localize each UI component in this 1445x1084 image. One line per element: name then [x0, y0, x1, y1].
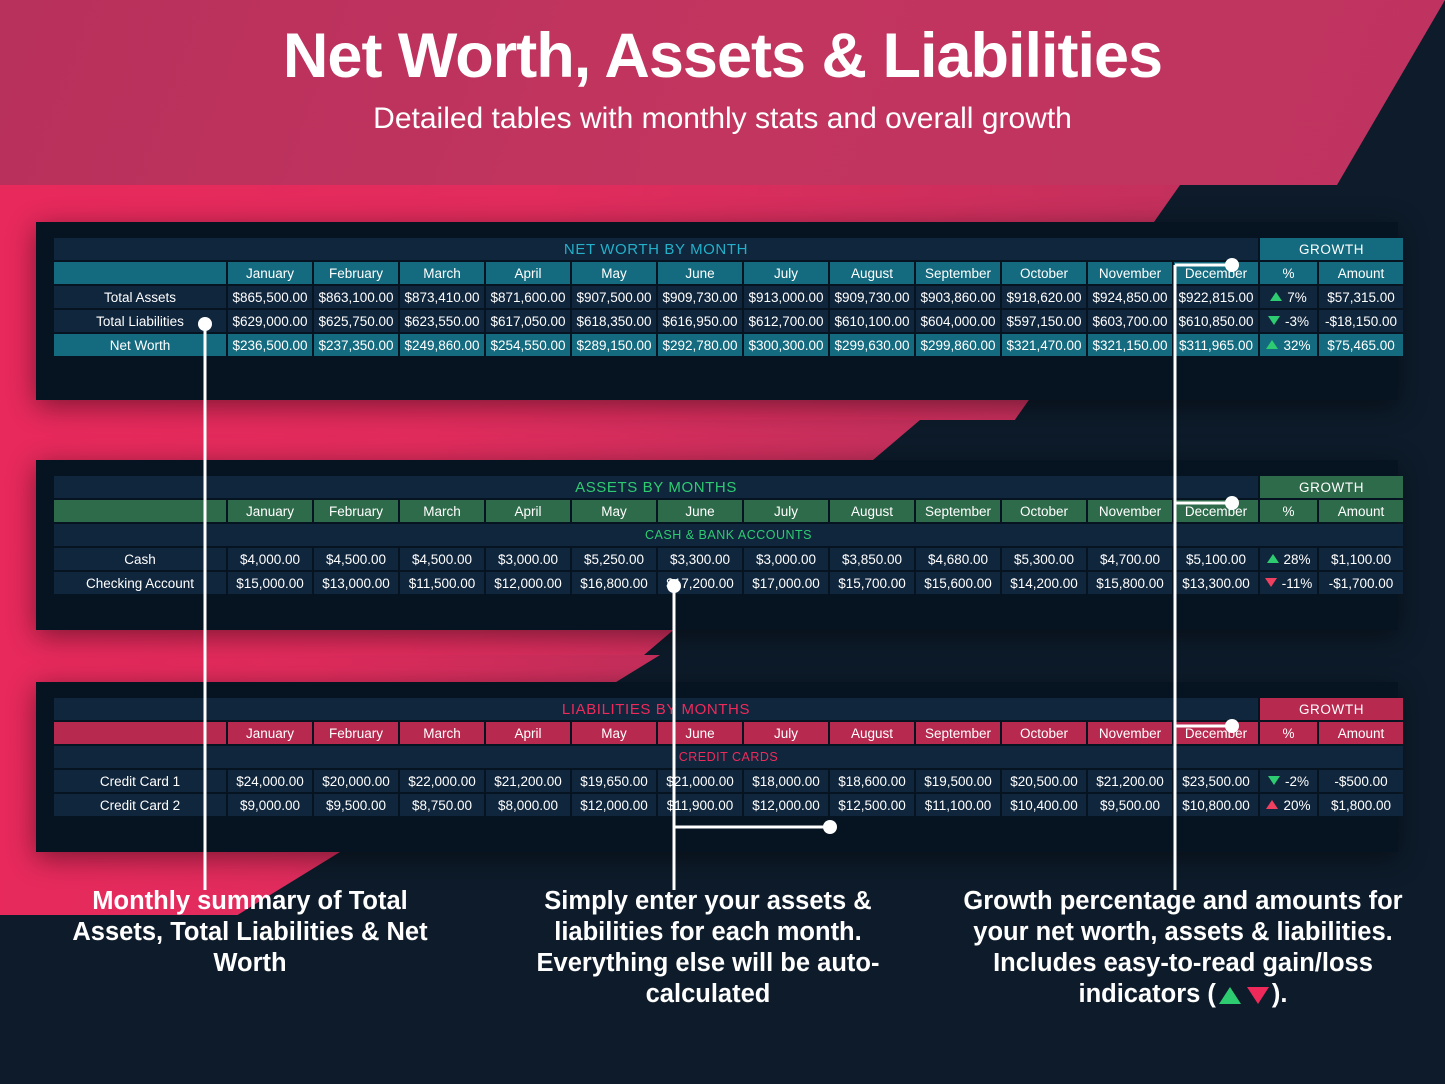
- arrow-down-icon: [1268, 776, 1280, 785]
- assets-panel: ASSETS BY MONTHSGROWTHJanuaryFebruaryMar…: [36, 460, 1398, 630]
- net-worth-growth-percent: 32%: [1260, 334, 1317, 356]
- liabilities-growth-percent-value: -2%: [1285, 774, 1309, 789]
- assets-cell-march[interactable]: $11,500.00: [400, 572, 484, 594]
- liabilities-cell-june[interactable]: $11,900.00: [658, 794, 742, 816]
- net-worth-header-month-may[interactable]: May: [572, 262, 656, 284]
- liabilities-cell-december[interactable]: $10,800.00: [1174, 794, 1258, 816]
- net-worth-row-label[interactable]: Net Worth: [54, 334, 226, 356]
- liabilities-header-month-july[interactable]: July: [744, 722, 828, 744]
- assets-row-label[interactable]: Checking Account: [54, 572, 226, 594]
- net-worth-cell-may[interactable]: $907,500.00: [572, 286, 656, 308]
- table-row: Net Worth$236,500.00$237,350.00$249,860.…: [54, 334, 1403, 356]
- net-worth-header-corner: [54, 262, 226, 284]
- liabilities-cell-november[interactable]: $9,500.00: [1088, 794, 1172, 816]
- net-worth-header-month-january[interactable]: January: [228, 262, 312, 284]
- assets-header-month-june[interactable]: June: [658, 500, 742, 522]
- liabilities-header-month-may[interactable]: May: [572, 722, 656, 744]
- net-worth-table: NET WORTH BY MONTHGROWTHJanuaryFebruaryM…: [52, 236, 1405, 358]
- liabilities-cell-january[interactable]: $9,000.00: [228, 794, 312, 816]
- net-worth-header-month-november[interactable]: November: [1088, 262, 1172, 284]
- liabilities-header-month-december[interactable]: December: [1174, 722, 1258, 744]
- net-worth-cell-september[interactable]: $604,000.00: [916, 310, 1000, 332]
- assets-cell-march[interactable]: $4,500.00: [400, 548, 484, 570]
- net-worth-header-growth-amount[interactable]: Amount: [1319, 262, 1403, 284]
- net-worth-cell-september[interactable]: $903,860.00: [916, 286, 1000, 308]
- net-worth-cell-november[interactable]: $924,850.00: [1088, 286, 1172, 308]
- net-worth-cell-june[interactable]: $909,730.00: [658, 286, 742, 308]
- gain-arrow-icon: [1219, 987, 1241, 1004]
- arrow-up-icon: [1266, 340, 1278, 349]
- page-subtitle: Detailed tables with monthly stats and o…: [0, 102, 1445, 136]
- liabilities-header-growth-percent[interactable]: %: [1260, 722, 1317, 744]
- assets-cell-april[interactable]: $12,000.00: [486, 572, 570, 594]
- arrow-up-icon: [1267, 554, 1279, 563]
- assets-cell-september[interactable]: $15,600.00: [916, 572, 1000, 594]
- net-worth-header-month-december[interactable]: December: [1174, 262, 1258, 284]
- net-worth-cell-january[interactable]: $236,500.00: [228, 334, 312, 356]
- assets-title-row: ASSETS BY MONTHSGROWTH: [54, 476, 1403, 498]
- assets-growth-percent: -11%: [1260, 572, 1317, 594]
- caption-monthly-summary: Monthly summary of Total Assets, Total L…: [40, 886, 460, 1084]
- assets-cell-october[interactable]: $14,200.00: [1002, 572, 1086, 594]
- table-row: Total Assets$865,500.00$863,100.00$873,4…: [54, 286, 1403, 308]
- net-worth-cell-july[interactable]: $300,300.00: [744, 334, 828, 356]
- net-worth-cell-june[interactable]: $292,780.00: [658, 334, 742, 356]
- assets-header-month-september[interactable]: September: [916, 500, 1000, 522]
- assets-cell-february[interactable]: $13,000.00: [314, 572, 398, 594]
- assets-cell-september[interactable]: $4,680.00: [916, 548, 1000, 570]
- assets-cell-october[interactable]: $5,300.00: [1002, 548, 1086, 570]
- caption-growth-text-b: ).: [1272, 980, 1288, 1008]
- assets-table: ASSETS BY MONTHSGROWTHJanuaryFebruaryMar…: [52, 474, 1405, 596]
- net-worth-cell-march[interactable]: $873,410.00: [400, 286, 484, 308]
- liabilities-cell-april[interactable]: $8,000.00: [486, 794, 570, 816]
- assets-cell-may[interactable]: $16,800.00: [572, 572, 656, 594]
- assets-header-month-december[interactable]: December: [1174, 500, 1258, 522]
- assets-growth-percent-value: 28%: [1284, 552, 1311, 567]
- assets-section-label: CASH & BANK ACCOUNTS: [54, 524, 1403, 546]
- assets-growth-percent-value: -11%: [1282, 576, 1313, 591]
- assets-table-title: ASSETS BY MONTHS: [54, 476, 1258, 498]
- page-title: Net Worth, Assets & Liabilities: [0, 22, 1445, 90]
- table-row: Total Liabilities$629,000.00$625,750.00$…: [54, 310, 1403, 332]
- net-worth-header-month-february[interactable]: February: [314, 262, 398, 284]
- net-worth-growth-header: GROWTH: [1260, 238, 1403, 260]
- liabilities-cell-july[interactable]: $18,000.00: [744, 770, 828, 792]
- net-worth-growth-percent: -3%: [1260, 310, 1317, 332]
- liabilities-column-header-row: JanuaryFebruaryMarchAprilMayJuneJulyAugu…: [54, 722, 1403, 744]
- net-worth-cell-april[interactable]: $871,600.00: [486, 286, 570, 308]
- net-worth-cell-september[interactable]: $299,860.00: [916, 334, 1000, 356]
- table-row: Credit Card 1$24,000.00$20,000.00$22,000…: [54, 770, 1403, 792]
- liabilities-cell-september[interactable]: $11,100.00: [916, 794, 1000, 816]
- net-worth-cell-august[interactable]: $299,630.00: [830, 334, 914, 356]
- net-worth-cell-march[interactable]: $249,860.00: [400, 334, 484, 356]
- assets-column-header-row: JanuaryFebruaryMarchAprilMayJuneJulyAugu…: [54, 500, 1403, 522]
- assets-header-month-march[interactable]: March: [400, 500, 484, 522]
- liabilities-section-row: CREDIT CARDS: [54, 746, 1403, 768]
- net-worth-cell-january[interactable]: $629,000.00: [228, 310, 312, 332]
- assets-cell-december[interactable]: $5,100.00: [1174, 548, 1258, 570]
- liabilities-header-month-april[interactable]: April: [486, 722, 570, 744]
- assets-growth-percent: 28%: [1260, 548, 1317, 570]
- assets-header-month-february[interactable]: February: [314, 500, 398, 522]
- arrow-down-icon: [1265, 578, 1277, 587]
- liabilities-header-month-march[interactable]: March: [400, 722, 484, 744]
- liabilities-cell-may[interactable]: $12,000.00: [572, 794, 656, 816]
- liabilities-growth-header: GROWTH: [1260, 698, 1403, 720]
- net-worth-cell-march[interactable]: $623,550.00: [400, 310, 484, 332]
- net-worth-cell-august[interactable]: $610,100.00: [830, 310, 914, 332]
- assets-cell-june[interactable]: $17,200.00: [658, 572, 742, 594]
- assets-cell-february[interactable]: $4,500.00: [314, 548, 398, 570]
- net-worth-growth-percent-value: -3%: [1285, 314, 1309, 329]
- liabilities-cell-february[interactable]: $20,000.00: [314, 770, 398, 792]
- caption-growth: Growth percentage and amounts for your n…: [928, 886, 1438, 1084]
- net-worth-cell-october[interactable]: $918,620.00: [1002, 286, 1086, 308]
- net-worth-cell-july[interactable]: $612,700.00: [744, 310, 828, 332]
- captions-row: Monthly summary of Total Assets, Total L…: [0, 886, 1445, 1084]
- assets-cell-november[interactable]: $4,700.00: [1088, 548, 1172, 570]
- net-worth-cell-may[interactable]: $289,150.00: [572, 334, 656, 356]
- assets-growth-header: GROWTH: [1260, 476, 1403, 498]
- net-worth-row-label[interactable]: Total Liabilities: [54, 310, 226, 332]
- assets-cell-december[interactable]: $13,300.00: [1174, 572, 1258, 594]
- liabilities-cell-november[interactable]: $21,200.00: [1088, 770, 1172, 792]
- net-worth-table-title: NET WORTH BY MONTH: [54, 238, 1258, 260]
- liabilities-growth-amount: -$500.00: [1319, 770, 1403, 792]
- liabilities-cell-september[interactable]: $19,500.00: [916, 770, 1000, 792]
- net-worth-cell-june[interactable]: $616,950.00: [658, 310, 742, 332]
- assets-cell-january[interactable]: $4,000.00: [228, 548, 312, 570]
- liabilities-growth-percent: -2%: [1260, 770, 1317, 792]
- assets-header-month-november[interactable]: November: [1088, 500, 1172, 522]
- page-header: Net Worth, Assets & Liabilities Detailed…: [0, 0, 1445, 185]
- assets-header-growth-percent[interactable]: %: [1260, 500, 1317, 522]
- assets-header-month-october[interactable]: October: [1002, 500, 1086, 522]
- liabilities-growth-amount: $1,800.00: [1319, 794, 1403, 816]
- liabilities-header-corner: [54, 722, 226, 744]
- caption-data-entry: Simply enter your assets & liabilities f…: [508, 886, 908, 1084]
- liabilities-cell-july[interactable]: $12,000.00: [744, 794, 828, 816]
- assets-header-month-april[interactable]: April: [486, 500, 570, 522]
- net-worth-cell-april[interactable]: $617,050.00: [486, 310, 570, 332]
- net-worth-column-header-row: JanuaryFebruaryMarchAprilMayJuneJulyAugu…: [54, 262, 1403, 284]
- net-worth-cell-february[interactable]: $863,100.00: [314, 286, 398, 308]
- net-worth-cell-october[interactable]: $597,150.00: [1002, 310, 1086, 332]
- net-worth-cell-july[interactable]: $913,000.00: [744, 286, 828, 308]
- net-worth-row-label[interactable]: Total Assets: [54, 286, 226, 308]
- assets-cell-july[interactable]: $3,000.00: [744, 548, 828, 570]
- assets-cell-august[interactable]: $15,700.00: [830, 572, 914, 594]
- net-worth-cell-december[interactable]: $610,850.00: [1174, 310, 1258, 332]
- liabilities-header-month-january[interactable]: January: [228, 722, 312, 744]
- liabilities-header-growth-amount[interactable]: Amount: [1319, 722, 1403, 744]
- net-worth-header-month-april[interactable]: April: [486, 262, 570, 284]
- assets-cell-july[interactable]: $17,000.00: [744, 572, 828, 594]
- net-worth-growth-percent-value: 32%: [1283, 338, 1310, 353]
- liabilities-table: LIABILITIES BY MONTHSGROWTHJanuaryFebrua…: [52, 696, 1405, 818]
- liabilities-cell-february[interactable]: $9,500.00: [314, 794, 398, 816]
- liabilities-cell-march[interactable]: $8,750.00: [400, 794, 484, 816]
- liabilities-cell-march[interactable]: $22,000.00: [400, 770, 484, 792]
- liabilities-panel: LIABILITIES BY MONTHSGROWTHJanuaryFebrua…: [36, 682, 1398, 852]
- net-worth-cell-november[interactable]: $321,150.00: [1088, 334, 1172, 356]
- net-worth-cell-february[interactable]: $625,750.00: [314, 310, 398, 332]
- liabilities-cell-august[interactable]: $18,600.00: [830, 770, 914, 792]
- liabilities-table-title: LIABILITIES BY MONTHS: [54, 698, 1258, 720]
- net-worth-cell-december[interactable]: $311,965.00: [1174, 334, 1258, 356]
- net-worth-header-month-october[interactable]: October: [1002, 262, 1086, 284]
- assets-section-row: CASH & BANK ACCOUNTS: [54, 524, 1403, 546]
- net-worth-growth-percent: 7%: [1260, 286, 1317, 308]
- net-worth-growth-amount: -$18,150.00: [1319, 310, 1403, 332]
- assets-header-corner: [54, 500, 226, 522]
- liabilities-header-month-october[interactable]: October: [1002, 722, 1086, 744]
- assets-cell-january[interactable]: $15,000.00: [228, 572, 312, 594]
- liabilities-title-row: LIABILITIES BY MONTHSGROWTH: [54, 698, 1403, 720]
- assets-header-month-may[interactable]: May: [572, 500, 656, 522]
- liabilities-growth-percent-value: 20%: [1283, 798, 1310, 813]
- assets-header-month-august[interactable]: August: [830, 500, 914, 522]
- loss-arrow-icon: [1247, 987, 1269, 1004]
- net-worth-cell-may[interactable]: $618,350.00: [572, 310, 656, 332]
- liabilities-cell-august[interactable]: $12,500.00: [830, 794, 914, 816]
- liabilities-header-month-february[interactable]: February: [314, 722, 398, 744]
- assets-cell-may[interactable]: $5,250.00: [572, 548, 656, 570]
- assets-cell-november[interactable]: $15,800.00: [1088, 572, 1172, 594]
- arrow-up-icon: [1266, 800, 1278, 809]
- table-row: Credit Card 2$9,000.00$9,500.00$8,750.00…: [54, 794, 1403, 816]
- net-worth-cell-december[interactable]: $922,815.00: [1174, 286, 1258, 308]
- liabilities-header-month-august[interactable]: August: [830, 722, 914, 744]
- net-worth-title-row: NET WORTH BY MONTHGROWTH: [54, 238, 1403, 260]
- net-worth-cell-november[interactable]: $603,700.00: [1088, 310, 1172, 332]
- liabilities-header-month-november[interactable]: November: [1088, 722, 1172, 744]
- net-worth-cell-february[interactable]: $237,350.00: [314, 334, 398, 356]
- liabilities-section-label: CREDIT CARDS: [54, 746, 1403, 768]
- liabilities-cell-may[interactable]: $19,650.00: [572, 770, 656, 792]
- arrow-up-icon: [1270, 292, 1282, 301]
- net-worth-growth-percent-value: 7%: [1287, 290, 1307, 305]
- assets-cell-august[interactable]: $3,850.00: [830, 548, 914, 570]
- liabilities-row-label[interactable]: Credit Card 1: [54, 770, 226, 792]
- caption-growth-text-a: Growth percentage and amounts for your n…: [963, 887, 1402, 1008]
- liabilities-row-label[interactable]: Credit Card 2: [54, 794, 226, 816]
- liabilities-header-month-june[interactable]: June: [658, 722, 742, 744]
- table-row: Cash$4,000.00$4,500.00$4,500.00$3,000.00…: [54, 548, 1403, 570]
- assets-cell-june[interactable]: $3,300.00: [658, 548, 742, 570]
- liabilities-cell-april[interactable]: $21,200.00: [486, 770, 570, 792]
- liabilities-cell-december[interactable]: $23,500.00: [1174, 770, 1258, 792]
- net-worth-header-month-july[interactable]: July: [744, 262, 828, 284]
- arrow-down-icon: [1268, 316, 1280, 325]
- net-worth-growth-amount: $57,315.00: [1319, 286, 1403, 308]
- liabilities-cell-october[interactable]: $10,400.00: [1002, 794, 1086, 816]
- net-worth-growth-amount: $75,465.00: [1319, 334, 1403, 356]
- assets-growth-amount: $1,100.00: [1319, 548, 1403, 570]
- net-worth-cell-october[interactable]: $321,470.00: [1002, 334, 1086, 356]
- net-worth-header-month-september[interactable]: September: [916, 262, 1000, 284]
- assets-header-month-january[interactable]: January: [228, 500, 312, 522]
- liabilities-growth-percent: 20%: [1260, 794, 1317, 816]
- assets-cell-april[interactable]: $3,000.00: [486, 548, 570, 570]
- net-worth-header-month-march[interactable]: March: [400, 262, 484, 284]
- assets-header-month-july[interactable]: July: [744, 500, 828, 522]
- assets-row-label[interactable]: Cash: [54, 548, 226, 570]
- net-worth-header-growth-percent[interactable]: %: [1260, 262, 1317, 284]
- liabilities-cell-june[interactable]: $21,000.00: [658, 770, 742, 792]
- net-worth-header-month-june[interactable]: June: [658, 262, 742, 284]
- net-worth-panel: NET WORTH BY MONTHGROWTHJanuaryFebruaryM…: [36, 222, 1398, 400]
- net-worth-header-month-august[interactable]: August: [830, 262, 914, 284]
- liabilities-header-month-september[interactable]: September: [916, 722, 1000, 744]
- table-row: Checking Account$15,000.00$13,000.00$11,…: [54, 572, 1403, 594]
- liabilities-cell-january[interactable]: $24,000.00: [228, 770, 312, 792]
- liabilities-cell-october[interactable]: $20,500.00: [1002, 770, 1086, 792]
- assets-header-growth-amount[interactable]: Amount: [1319, 500, 1403, 522]
- net-worth-cell-april[interactable]: $254,550.00: [486, 334, 570, 356]
- net-worth-cell-august[interactable]: $909,730.00: [830, 286, 914, 308]
- assets-growth-amount: -$1,700.00: [1319, 572, 1403, 594]
- net-worth-cell-january[interactable]: $865,500.00: [228, 286, 312, 308]
